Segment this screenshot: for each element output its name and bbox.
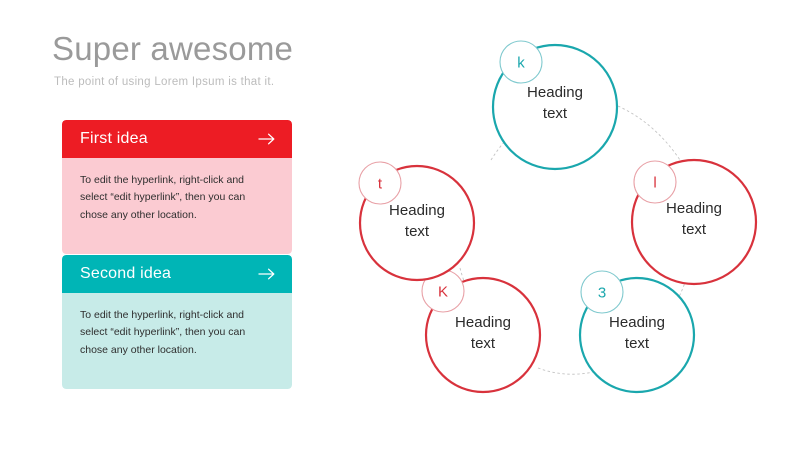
arrow-right-icon[interactable] — [258, 267, 276, 281]
page-title: Super awesome — [52, 30, 293, 68]
diagram-node-bottom-left-heading-line-1: Heading — [455, 314, 511, 331]
idea-card-first-body-line-2: select “edit hyperlink”, then you can — [80, 189, 274, 206]
idea-card-first-body: To edit the hyperlink, right-click and s… — [62, 158, 292, 254]
idea-card-first[interactable]: First idea To edit the hyperlink, right-… — [62, 120, 292, 254]
diagram-node-bottom-right-heading-line-2: text — [625, 335, 650, 352]
left-panel: Super awesome The point of using Lorem I… — [0, 0, 330, 450]
idea-card-first-body-line-3: chose any other location. — [80, 207, 274, 224]
diagram-node-left-heading-line-1: Heading — [389, 202, 445, 219]
connector-bottom-left-to-bottom-right — [538, 368, 593, 374]
diagram-node-right[interactable]: Heading text l — [632, 160, 756, 284]
page-subtitle: The point of using Lorem Ipsum is that i… — [54, 76, 274, 88]
idea-card-second[interactable]: Second idea To edit the hyperlink, right… — [62, 255, 292, 389]
idea-card-second-body-line-3: chose any other location. — [80, 342, 274, 359]
diagram-node-left[interactable]: Heading text t — [359, 162, 474, 280]
diagram-node-right-heading-line-1: Heading — [666, 200, 722, 217]
idea-card-second-body-line-1: To edit the hyperlink, right-click and — [80, 307, 274, 324]
diagram-node-bottom-right-badge-label: 3 — [598, 285, 606, 302]
idea-card-second-header[interactable]: Second idea — [62, 255, 292, 293]
cycle-diagram-svg: Heading text k Heading text l Heading te… — [330, 0, 800, 450]
idea-card-second-body-line-2: select “edit hyperlink”, then you can — [80, 324, 274, 341]
idea-card-first-body-line-1: To edit the hyperlink, right-click and — [80, 172, 274, 189]
diagram-node-right-heading-line-2: text — [682, 221, 707, 238]
diagram-node-bottom-right[interactable]: Heading text 3 — [580, 271, 694, 392]
diagram-node-bottom-right-heading-line-1: Heading — [609, 314, 665, 331]
diagram-node-top[interactable]: Heading text k — [493, 41, 617, 169]
diagram-node-right-badge-label: l — [653, 175, 656, 192]
diagram-node-bottom-left-badge-label: K — [438, 284, 448, 301]
diagram-node-top-badge-label: k — [517, 55, 525, 72]
idea-card-first-title: First idea — [80, 130, 148, 148]
idea-card-second-body: To edit the hyperlink, right-click and s… — [62, 293, 292, 389]
cycle-diagram: Heading text k Heading text l Heading te… — [330, 0, 800, 450]
diagram-node-top-heading-line-2: text — [543, 105, 568, 122]
idea-card-second-title: Second idea — [80, 265, 171, 283]
diagram-node-bottom-left-heading-line-2: text — [471, 335, 496, 352]
diagram-node-top-heading-line-1: Heading — [527, 84, 583, 101]
arrow-right-icon[interactable] — [258, 132, 276, 146]
diagram-node-left-heading-line-2: text — [405, 223, 430, 240]
idea-card-first-header[interactable]: First idea — [62, 120, 292, 158]
diagram-node-bottom-left[interactable]: Heading text K — [422, 270, 540, 392]
connector-top-to-right — [618, 106, 680, 160]
